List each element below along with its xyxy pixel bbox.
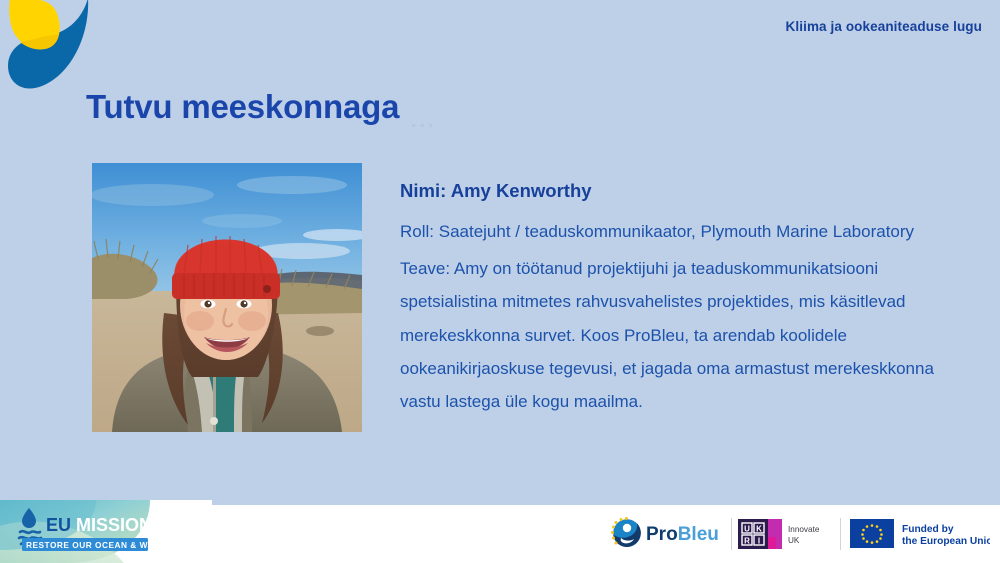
svg-text:R: R [744,537,750,546]
ukri-innovate-uk-logo: U K R I Innovate UK [736,517,832,551]
eu-funded-line1: Funded by [902,524,954,535]
slide-canvas: Kliima ja ookeaniteaduse lugu Tutvu mees… [0,0,1000,563]
logo-divider-right [840,518,841,550]
bio-info: Teave: Amy on töötanud projektijuhi ja t… [400,252,962,418]
bio-role: Roll: Saatejuht / teaduskommunikaator, P… [400,215,962,248]
page-title: Tutvu meeskonnaga [86,88,399,126]
header-label: Kliima ja ookeaniteaduse lugu [786,19,982,34]
eu-mission-leaf-icon [2,0,98,102]
probleu-logo: ProBleu [608,514,723,552]
eu-missions-subtitle: RESTORE OUR OCEAN & WATERS [26,540,177,550]
eu-funded-line2: the European Union [902,536,990,547]
innovate-uk-label-line2: UK [788,536,800,545]
svg-text:K: K [756,525,762,534]
svg-text:I: I [758,537,760,546]
logo-divider-left [731,518,732,550]
page-title-dots: ... [411,110,437,133]
innovate-uk-label-line1: Innovate [788,525,820,534]
portrait-photo [92,163,362,432]
eu-missions-logo: EU MISSIONS RESTORE OUR OCEAN & WATERS [0,500,212,563]
svg-text:U: U [744,525,750,534]
probleu-wordmark: ProBleu [646,524,719,545]
bio-block: Nimi: Amy Kenworthy Roll: Saatejuht / te… [400,180,962,418]
bio-name: Nimi: Amy Kenworthy [400,180,962,202]
eu-funded-logo: Funded by the European Union [850,517,990,550]
eu-missions-title: EU MISSIONS [46,515,164,535]
